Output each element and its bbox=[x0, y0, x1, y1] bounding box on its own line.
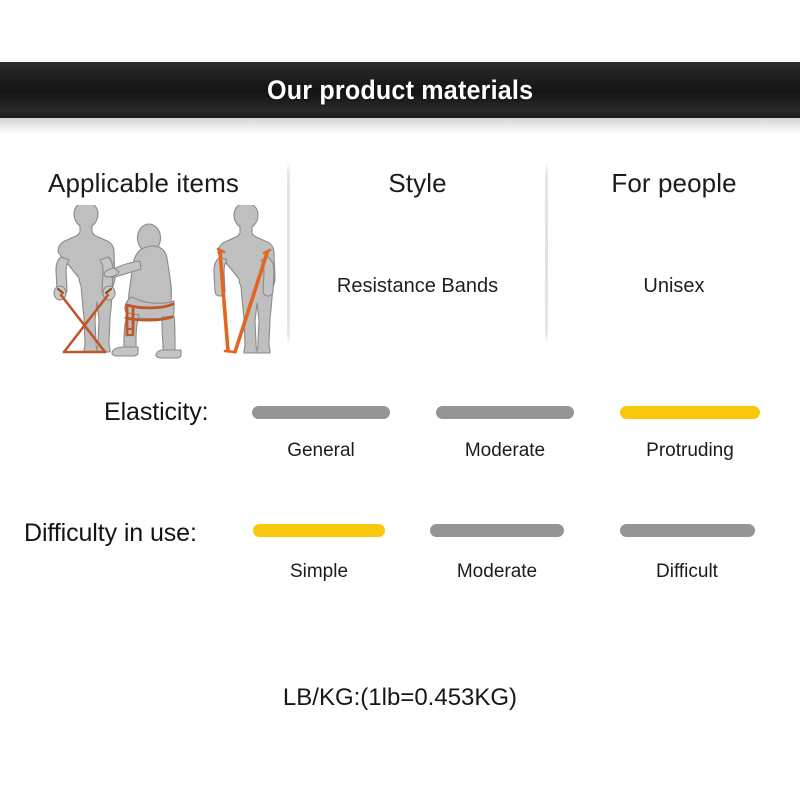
rating-bar-elasticity-protruding bbox=[620, 406, 760, 419]
column-header-style: Style bbox=[290, 168, 545, 199]
rating-bar-elasticity-moderate bbox=[436, 406, 574, 419]
column-value-for-people: Unisex bbox=[548, 275, 800, 298]
column-value-style: Resistance Bands bbox=[290, 275, 545, 298]
rating-label-elasticity: Elasticity: bbox=[104, 398, 208, 427]
rating-bar-elasticity-general bbox=[252, 406, 390, 419]
column-header-for-people: For people bbox=[548, 168, 800, 199]
rating-caption-elasticity-moderate: Moderate bbox=[416, 440, 594, 462]
rating-bar-difficulty-moderate bbox=[430, 524, 564, 537]
page-title: Our product materials bbox=[267, 75, 533, 106]
figure-seated-squat-band bbox=[104, 224, 181, 358]
rating-caption-difficulty-moderate: Moderate bbox=[407, 561, 587, 583]
footer-conversion-note: LB/KG:(1lb=0.453KG) bbox=[0, 684, 800, 712]
column-header-applicable-items: Applicable items bbox=[0, 168, 287, 199]
rating-label-difficulty: Difficulty in use: bbox=[24, 519, 197, 548]
rating-caption-difficulty-simple: Simple bbox=[229, 561, 409, 583]
infographic-page: Our product materials Applicable items S… bbox=[0, 0, 800, 800]
rating-caption-elasticity-general: General bbox=[232, 440, 410, 462]
exercise-figures-illustration bbox=[22, 205, 277, 360]
rating-bar-difficulty-simple bbox=[253, 524, 385, 537]
figure-standing-shoulder-pull bbox=[214, 205, 275, 353]
rating-caption-difficulty-difficult: Difficult bbox=[597, 561, 777, 583]
rating-caption-elasticity-protruding: Protruding bbox=[600, 440, 780, 462]
page-banner: Our product materials bbox=[0, 62, 800, 118]
rating-bar-difficulty-difficult bbox=[620, 524, 755, 537]
figure-standing-crossed-band bbox=[54, 205, 115, 352]
